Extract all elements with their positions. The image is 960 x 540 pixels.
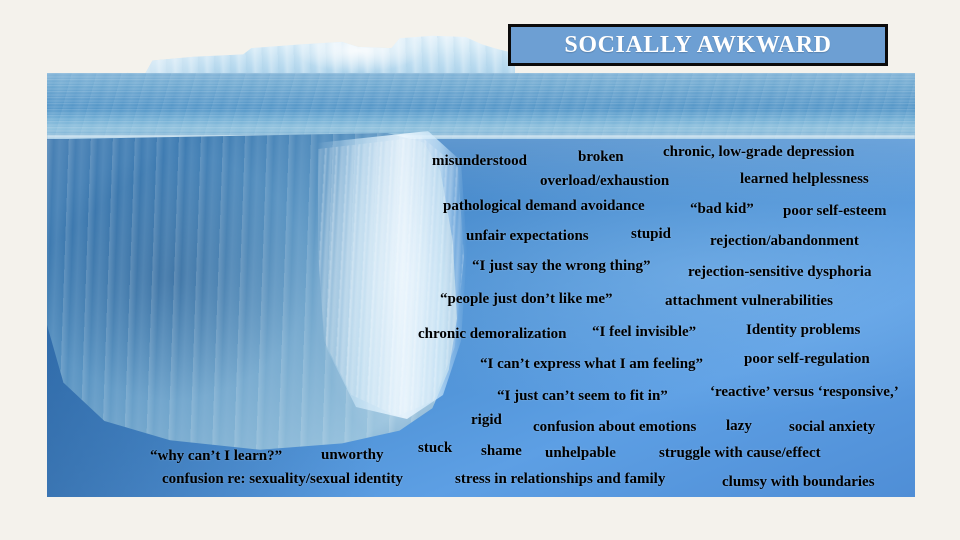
iceberg-word-label: broken bbox=[578, 150, 624, 165]
iceberg-word-label: confusion about emotions bbox=[533, 420, 696, 435]
iceberg-word-label: struggle with cause/effect bbox=[659, 446, 821, 461]
iceberg-word-label: unhelpable bbox=[545, 446, 616, 461]
iceberg-word-label: “I feel invisible” bbox=[592, 325, 696, 340]
iceberg-word-label: poor self-regulation bbox=[744, 352, 870, 367]
iceberg-word-label: “I just can’t seem to fit in” bbox=[497, 389, 668, 404]
iceberg-word-label: social anxiety bbox=[789, 420, 875, 435]
iceberg-word-label: “people just don’t like me” bbox=[440, 292, 613, 307]
iceberg-word-label: clumsy with boundaries bbox=[722, 475, 875, 490]
iceberg-word-label: chronic, low-grade depression bbox=[663, 145, 855, 160]
iceberg-word-label: “I just say the wrong thing” bbox=[472, 259, 651, 274]
iceberg-word-label: stress in relationships and family bbox=[455, 472, 665, 487]
iceberg-word-label: “why can’t I learn?” bbox=[150, 449, 282, 464]
iceberg-word-label: “bad kid” bbox=[690, 202, 754, 217]
iceberg-word-label: shame bbox=[481, 444, 522, 459]
iceberg-word-label: unworthy bbox=[321, 448, 384, 463]
iceberg-tip bbox=[103, 32, 515, 74]
iceberg-word-label: pathological demand avoidance bbox=[443, 199, 645, 214]
iceberg-word-label: poor self-esteem bbox=[783, 204, 886, 219]
iceberg-photograph bbox=[47, 73, 915, 497]
iceberg-word-label: overload/exhaustion bbox=[540, 174, 669, 189]
iceberg-word-label: misunderstood bbox=[432, 154, 527, 169]
slide-canvas: SOCIALLY AWKWARD misunderstoodbrokenchro… bbox=[0, 0, 960, 540]
iceberg-word-label: stupid bbox=[631, 227, 671, 242]
iceberg-word-label: Identity problems bbox=[746, 323, 860, 338]
iceberg-word-label: rejection-sensitive dysphoria bbox=[688, 265, 871, 280]
iceberg-word-label: stuck bbox=[418, 441, 452, 456]
iceberg-word-label: lazy bbox=[726, 419, 752, 434]
iceberg-word-label: chronic demoralization bbox=[418, 327, 566, 342]
iceberg-word-label: learned helplessness bbox=[740, 172, 869, 187]
iceberg-word-label: confusion re: sexuality/sexual identity bbox=[162, 472, 403, 487]
sea-surface-upper bbox=[47, 73, 915, 141]
iceberg-word-label: attachment vulnerabilities bbox=[665, 294, 833, 309]
iceberg-word-label: “I can’t express what I am feeling” bbox=[480, 357, 703, 372]
iceberg-word-label: rejection/abandonment bbox=[710, 234, 859, 249]
title-banner: SOCIALLY AWKWARD bbox=[508, 24, 888, 66]
iceberg-word-label: unfair expectations bbox=[466, 229, 589, 244]
iceberg-word-label: rigid bbox=[471, 413, 502, 428]
iceberg-word-label: ‘reactive’ versus ‘responsive,’ bbox=[710, 385, 899, 400]
page-title: SOCIALLY AWKWARD bbox=[564, 32, 831, 59]
